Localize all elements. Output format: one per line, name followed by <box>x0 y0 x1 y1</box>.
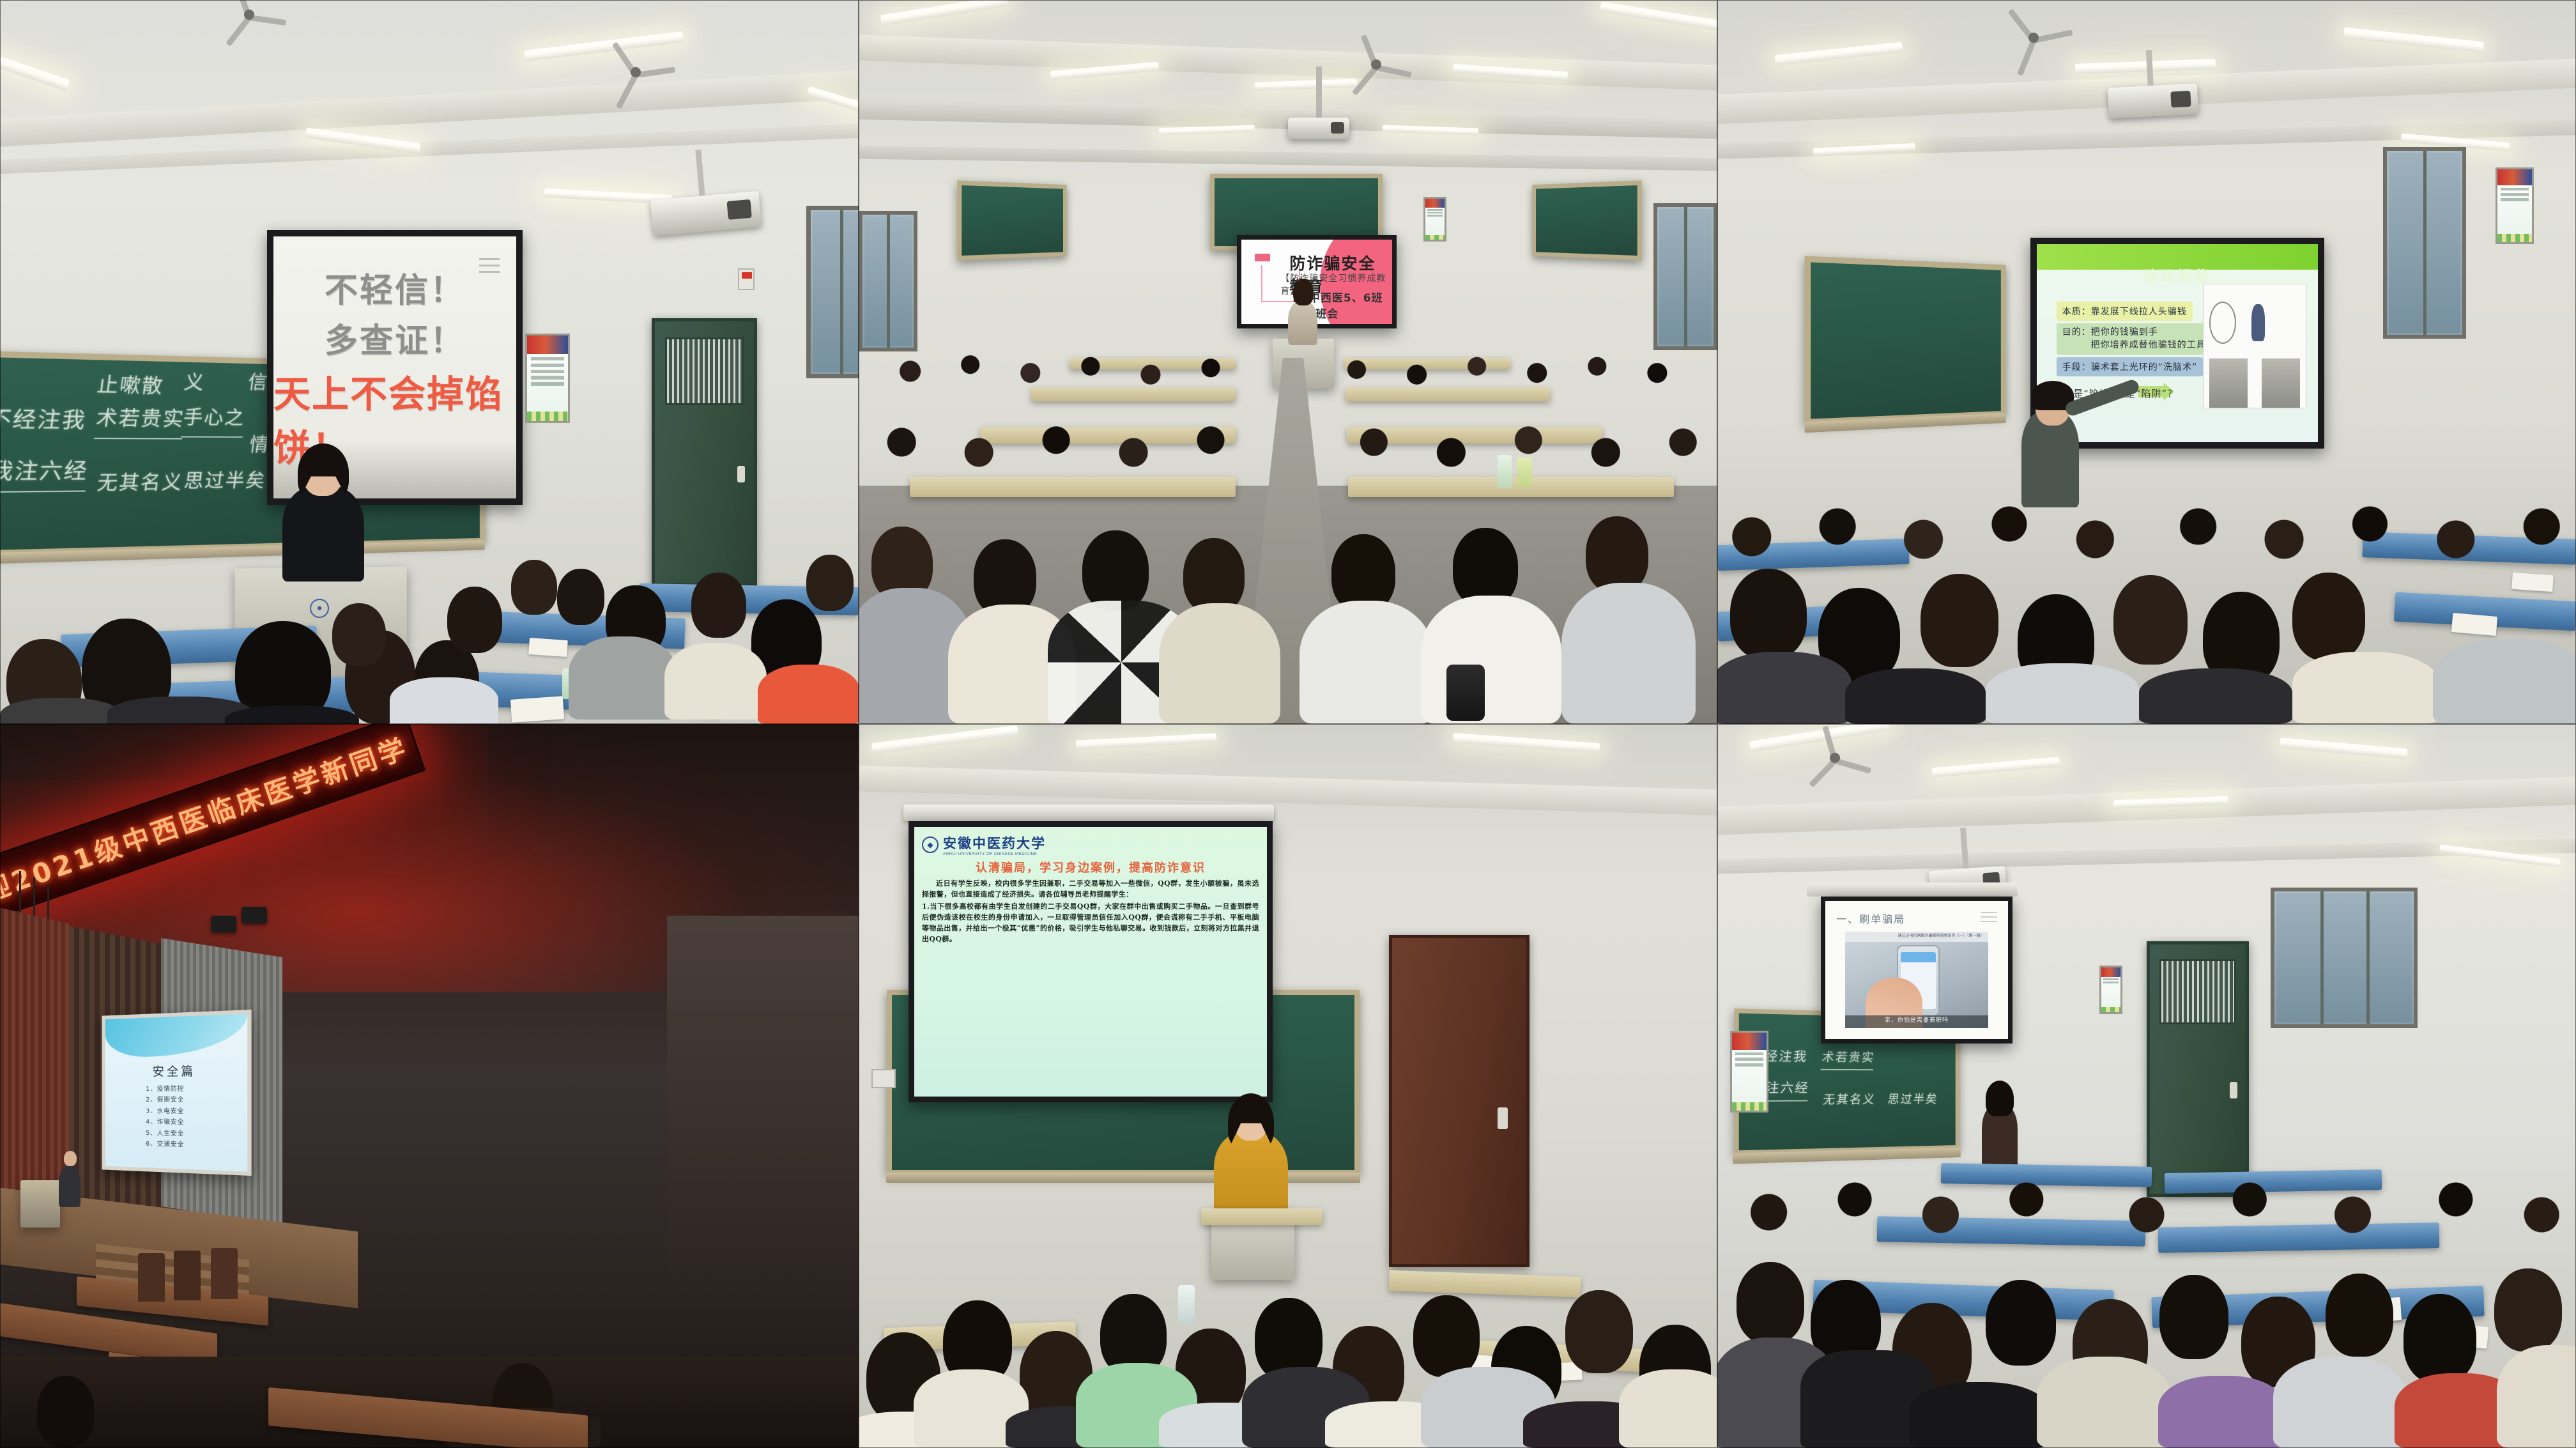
chalk-text: 思过半矣 <box>183 465 268 493</box>
slide-list-item: 2、假期安全 <box>146 1095 184 1106</box>
presenter-head <box>64 1151 77 1166</box>
student-crowd <box>1717 447 2576 575</box>
student-body <box>2433 639 2576 724</box>
student-head <box>1986 1280 2056 1366</box>
stage-spotlight <box>211 916 236 932</box>
chalk-text: 手心之 <box>181 401 247 438</box>
student-head <box>2494 1268 2562 1352</box>
student-head <box>511 560 557 615</box>
projection-screen: 一、刷单骗局 通过这电信网络诈骗案例视频系列（一）（第一期） 亲，你怕是需要兼职… <box>1821 897 2012 1044</box>
slide-heading: 一、刷单骗局 <box>1836 911 1905 926</box>
thermos-cup <box>1446 665 1485 721</box>
slide-title: 骗局揭秘 <box>2037 264 2318 286</box>
projector-mount <box>1316 66 1322 125</box>
window <box>2383 147 2466 339</box>
stage-spotlight <box>241 907 267 923</box>
notebook <box>2451 613 2497 636</box>
decorative-dash <box>1255 254 1270 261</box>
chalk-text: 无其名义 <box>1822 1090 1877 1108</box>
chalk-text: 术若贵实 <box>94 401 187 440</box>
slide-list-item: 5、人生安全 <box>146 1128 184 1140</box>
screen-roller-casing <box>1807 882 2018 897</box>
student-body <box>1159 603 1280 724</box>
wall-poster <box>1423 197 1446 242</box>
student-crowd <box>1717 1120 2576 1248</box>
student-head <box>447 587 502 653</box>
slide-illustration <box>2203 284 2307 408</box>
student-body <box>1845 668 1986 724</box>
slide-line-1: 不轻信！ <box>325 263 465 311</box>
student-body <box>0 698 121 724</box>
student-body <box>2273 1357 2407 1448</box>
student-body <box>2292 652 2439 724</box>
fire-alarm-icon <box>738 268 755 290</box>
presenter-body <box>59 1165 80 1207</box>
projection-screen: 骗局揭秘 本质：靠发展下线拉人头骗钱 目的：把你的钱骗到手 把你培养成替他骗钱的… <box>2030 238 2324 449</box>
classroom-door[interactable] <box>652 318 757 587</box>
slide-content: ◆ 安徽中医药大学 ANHUI UNIVERSITY OF CHINESE ME… <box>914 827 1267 1097</box>
slide-point-2-line-a: 目的：把你的钱骗到手 <box>2062 327 2158 337</box>
ceiling-fan <box>1797 744 1873 771</box>
pit-gap <box>2248 358 2262 408</box>
student-desk <box>1201 1208 1322 1225</box>
panel-bottom-left: 热烈欢迎2021级中西医临床医学新同学 安全篇 1、疫情防控 2、假期安全 3、… <box>0 724 859 1448</box>
student-head <box>332 603 386 666</box>
slide-paragraph: 1.当下很多高校都有由学生自发创建的二手交易QQ群，大家在群中出售或购买二手物品… <box>922 902 1259 944</box>
student-body <box>1909 1382 2050 1448</box>
chair <box>138 1253 165 1302</box>
ceiling-fan <box>1992 23 2075 52</box>
slide-content: 一、刷单骗局 通过这电信网络诈骗案例视频系列（一）（第一期） 亲，你怕是需要兼职… <box>1825 901 2008 1039</box>
projector <box>2108 83 2198 118</box>
slide-heading: 认清骗局，学习身边案例，提高防诈意识 <box>922 859 1259 875</box>
chalk-text: 术若贵实 <box>1820 1047 1876 1070</box>
student-body <box>390 677 498 724</box>
panel-top-right: 骗局揭秘 本质：靠发展下线拉人头骗钱 目的：把你的钱骗到手 把你培养成替他骗钱的… <box>1717 0 2576 724</box>
slide-point-3: 手段：骗术套上光环的“洗脑术” <box>2057 357 2204 376</box>
window <box>2271 888 2418 1028</box>
slide-list-item: 6、交通安全 <box>146 1139 184 1151</box>
water-bottle <box>1498 455 1512 488</box>
wall-poster <box>2495 167 2534 244</box>
drink-cup <box>1517 458 1532 487</box>
university-name-cn: 安徽中医药大学 <box>943 833 1046 852</box>
wall-switch[interactable] <box>871 1069 896 1088</box>
student-head <box>1183 538 1245 613</box>
chalk-text: 我注六经 <box>0 453 90 493</box>
slide-photo: 通过这电信网络诈骗案例视频系列（一）（第一期） 亲，你怕是需要兼职吗 <box>1845 932 1988 1028</box>
wall-right <box>667 916 859 1274</box>
student-body <box>2158 1376 2286 1448</box>
notebook <box>2511 573 2554 592</box>
panel-top-middle: 防诈骗安全教育 【防诈骗安全习惯养成教育】 20中西医5、6班主题班会 <box>859 0 1717 724</box>
pie-drawing <box>2209 302 2236 344</box>
projector <box>1288 118 1349 139</box>
chalk-text: 不经注我 <box>0 401 89 435</box>
student-head <box>2292 573 2365 661</box>
slide-content: 防诈骗安全教育 【防诈骗安全习惯养成教育】 20中西医5、6班主题班会 <box>1241 240 1392 324</box>
student-head <box>1920 574 1998 667</box>
photo-top-note: 通过这电信网络诈骗案例视频系列（一）（第一期） <box>1845 932 1988 943</box>
student-head <box>2159 1275 2228 1359</box>
blackboard <box>1805 256 2006 425</box>
notebook <box>528 638 568 657</box>
wall-poster <box>1730 1031 1768 1113</box>
water-bottle <box>1178 1285 1195 1325</box>
window <box>806 206 859 378</box>
student-body <box>569 636 677 720</box>
chalk-text: 义 <box>183 366 207 395</box>
audience-head <box>37 1376 95 1448</box>
student-body <box>758 665 859 724</box>
teacher-hair <box>1986 1081 2014 1116</box>
door-knob[interactable] <box>2230 1082 2237 1098</box>
university-logo-icon: ◆ <box>922 836 939 853</box>
chalk-tray <box>886 1173 1360 1183</box>
slide-list-item: 4、诈骗安全 <box>146 1117 184 1128</box>
slide-content: 安全篇 1、疫情防控 2、假期安全 3、水电安全 4、诈骗安全 5、人生安全 6… <box>105 1013 247 1171</box>
door-knob[interactable] <box>1498 1107 1508 1129</box>
student-body <box>2139 668 2292 724</box>
slide-body: 近日有学生反映，校内很多学生因兼职，二手交易等加入一些微信，QQ群，发生小额被骗… <box>922 879 1259 944</box>
door-grille <box>665 337 744 406</box>
ceiling-fan <box>1338 51 1414 78</box>
student-head <box>2326 1274 2393 1357</box>
student-body <box>1986 663 2139 724</box>
screen-casing <box>267 230 523 234</box>
student-body <box>2497 1345 2576 1448</box>
student-head <box>1082 530 1149 611</box>
slide-line-2: 多查证！ <box>325 314 465 362</box>
wall-poster <box>525 334 570 423</box>
ceiling-fan <box>594 58 677 87</box>
blackboard-right <box>1532 180 1641 260</box>
student-head <box>557 569 604 625</box>
chair <box>211 1248 238 1299</box>
door-grille <box>2159 959 2236 1024</box>
student-head <box>1565 1290 1633 1373</box>
student-head <box>2403 1294 2476 1383</box>
panel-bottom-middle: 止嗽散 ◆ 安徽中医药大学 ANHUI UNIVERSITY OF CHINES… <box>859 724 1717 1448</box>
student-body <box>1561 583 1696 724</box>
door-knob[interactable] <box>737 466 745 482</box>
hamburger-icon <box>1981 912 1997 925</box>
student-body <box>1717 652 1851 724</box>
panel-top-left: 不经注我 我注六经 止嗽散 术若贵实 义 手心之 信 情 无其名义 思过半矣 不… <box>0 0 859 724</box>
chalk-text: 思过半矣 <box>1887 1090 1939 1107</box>
slide-list-item: 1、疫情防控 <box>146 1084 184 1095</box>
student-body <box>1619 1369 1717 1448</box>
lectern <box>20 1180 60 1228</box>
notebook <box>510 696 564 723</box>
student-body <box>1299 601 1434 724</box>
student-head <box>2113 575 2188 665</box>
university-header: ◆ 安徽中医药大学 ANHUI UNIVERSITY OF CHINESE ME… <box>922 833 1259 856</box>
student-head <box>1413 1295 1480 1377</box>
chalk-text: 无其名义 <box>96 466 185 495</box>
projection-screen: ◆ 安徽中医药大学 ANHUI UNIVERSITY OF CHINESE ME… <box>908 821 1273 1102</box>
slide-wave-decor <box>105 1013 247 1057</box>
wall-poster <box>2099 966 2122 1014</box>
screen-roller-casing <box>903 805 1274 821</box>
slide-title: 安全篇 <box>105 1061 247 1081</box>
photo-collage: 不经注我 我注六经 止嗽散 术若贵实 义 手心之 信 情 无其名义 思过半矣 不… <box>0 0 2576 1448</box>
student-head <box>1586 516 1648 593</box>
ceiling-fan <box>211 1 287 28</box>
slide-paragraph: 近日有学生反映，校内很多学生因兼职，二手交易等加入一些微信，QQ群，发生小额被骗… <box>922 879 1259 900</box>
slide-point-2: 目的：把你的钱骗到手 把你培养成替他骗钱的工具 <box>2057 323 2212 355</box>
slide-point-1: 本质：靠发展下线拉人头骗钱 <box>2057 302 2193 321</box>
student-body <box>1421 596 1561 724</box>
hamburger-icon <box>479 258 500 277</box>
blackboard-left <box>957 180 1066 260</box>
screen-casing <box>2030 238 2324 242</box>
student-head <box>1736 1262 1804 1344</box>
classroom-door[interactable] <box>1389 935 1529 1267</box>
slide-item-list: 1、疫情防控 2、假期安全 3、水电安全 4、诈骗安全 5、人生安全 6、交通安… <box>146 1084 184 1151</box>
lecturer-body <box>282 486 364 582</box>
chair <box>174 1251 201 1300</box>
chalk-text: 止嗽散 <box>96 368 166 399</box>
university-name-en: ANHUI UNIVERSITY OF CHINESE MEDICINE <box>943 852 1046 856</box>
panel-bottom-right: 不经注我 我注六经 止嗽散 术若贵实 无其名义 思过半矣 一、刷单骗局 通过这电… <box>1717 724 2576 1448</box>
running-man-drawing <box>2251 304 2265 341</box>
photo-caption: 亲，你怕是需要兼职吗 <box>1845 1015 1988 1028</box>
slide-point-2-line-b: 把你培养成替他骗钱的工具 <box>2062 340 2206 350</box>
student-head <box>806 555 854 611</box>
presenter-hair <box>1293 279 1314 305</box>
student-body <box>664 643 767 720</box>
university-crest-icon: ● <box>310 599 329 618</box>
student-head <box>691 573 746 638</box>
student-crowd-mid <box>859 381 1717 483</box>
student-body <box>2037 1357 2171 1448</box>
slide-list-item: 3、水电安全 <box>146 1105 184 1117</box>
student-head <box>1730 569 1807 659</box>
projection-screen: 安全篇 1、疫情防控 2、假期安全 3、水电安全 4、诈骗安全 5、人生安全 6… <box>102 1010 251 1176</box>
